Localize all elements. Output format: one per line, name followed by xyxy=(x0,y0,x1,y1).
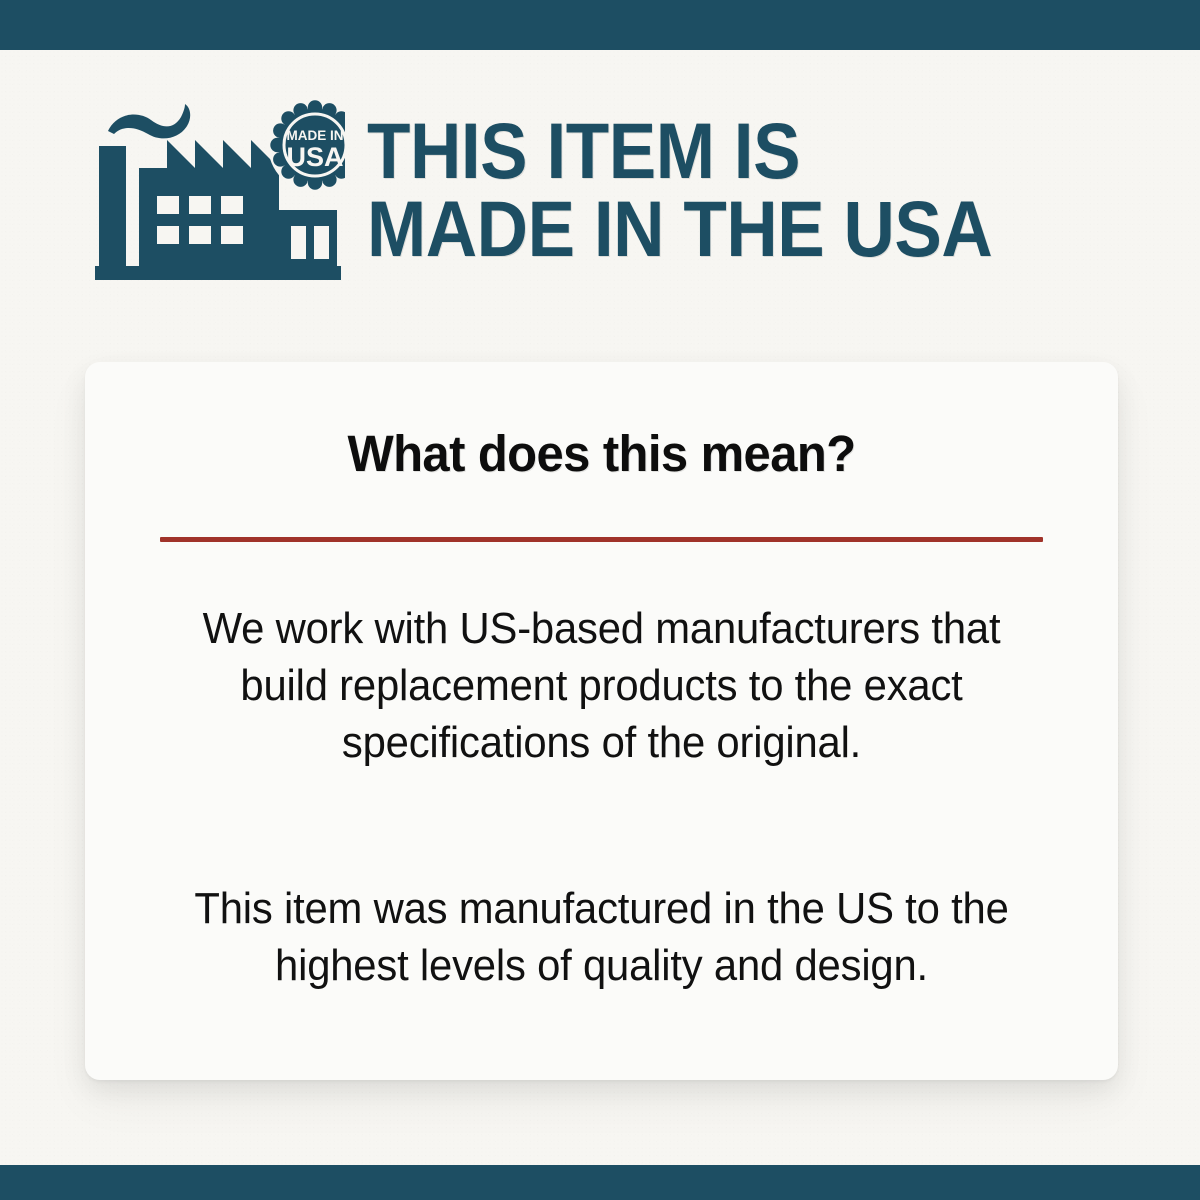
page-root: MADE IN USA THIS ITEM IS MADE IN THE USA… xyxy=(0,0,1200,1200)
badge-line-1: MADE IN xyxy=(287,128,344,143)
card-divider xyxy=(160,537,1043,542)
top-accent-bar xyxy=(0,0,1200,50)
card-paragraph-1: We work with US-based manufacturers that… xyxy=(168,600,1035,772)
page-title-line-1: THIS ITEM IS xyxy=(367,112,992,190)
card-paragraph-2: This item was manufactured in the US to … xyxy=(168,880,1035,994)
bottom-accent-bar xyxy=(0,1165,1200,1200)
page-title-line-2: MADE IN THE USA xyxy=(367,190,992,268)
explanation-card: What does this mean? We work with US-bas… xyxy=(85,362,1118,1080)
card-heading: What does this mean? xyxy=(106,424,1098,483)
header-banner: MADE IN USA THIS ITEM IS MADE IN THE USA xyxy=(0,95,1200,285)
badge-line-2: USA xyxy=(286,142,343,172)
factory-with-made-in-usa-badge-icon: MADE IN USA xyxy=(95,98,345,283)
page-title: THIS ITEM IS MADE IN THE USA xyxy=(367,112,992,268)
